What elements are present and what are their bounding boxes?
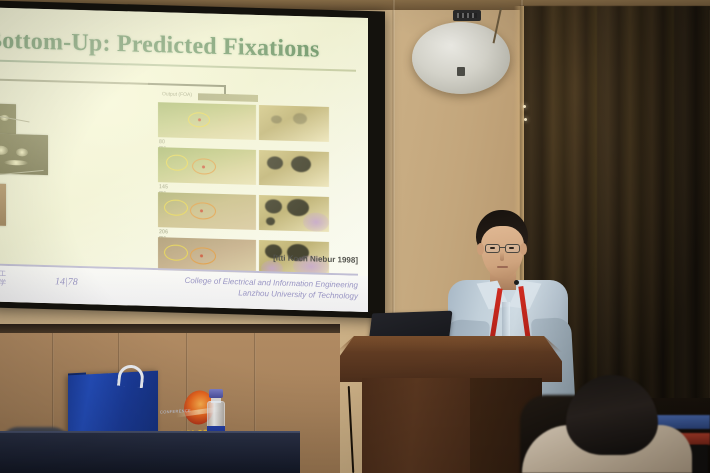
diagram-flow-arrow xyxy=(148,83,226,87)
fixation-ellipse xyxy=(190,247,216,265)
fixation-ellipse xyxy=(190,202,216,220)
saliency-map-image xyxy=(259,105,329,142)
speaker-mount-bracket xyxy=(453,10,481,21)
slide-page-number: 14|78 xyxy=(55,276,78,288)
diagram-flow-line xyxy=(0,78,150,84)
eyeglasses-bridge-icon xyxy=(500,247,505,248)
presenter-nose xyxy=(500,252,504,261)
presenter-ear-right xyxy=(520,243,527,255)
projection-screen-surface: Bottom-Up: Predicted Fixations xyxy=(0,7,368,312)
curtain-light-glint xyxy=(524,118,527,121)
fixation-point xyxy=(198,118,201,121)
fixation-ellipse xyxy=(164,199,188,216)
water-bottle-cap xyxy=(209,389,223,398)
scene-image xyxy=(158,192,256,230)
front-table xyxy=(0,433,300,473)
scene-image xyxy=(158,147,256,185)
fixation-point xyxy=(200,209,203,212)
projection-screen-frame: Bottom-Up: Predicted Fixations xyxy=(0,0,385,318)
slide-title: Bottom-Up: Predicted Fixations xyxy=(0,27,320,63)
scene-image xyxy=(158,102,256,140)
slide-footer-cn-line2: 大学 xyxy=(0,279,6,288)
speaker-logo-plate xyxy=(457,67,465,76)
saliency-map-image xyxy=(259,150,329,187)
fixation-ellipse xyxy=(164,244,188,261)
saliency-thumbnail xyxy=(0,183,6,226)
fixation-ellipse xyxy=(166,154,188,171)
presenter-ear-left xyxy=(477,243,484,255)
diagram-output-bar xyxy=(198,93,258,102)
lapel-microphone-icon xyxy=(514,280,519,285)
presentation-slide: Bottom-Up: Predicted Fixations xyxy=(0,7,368,312)
podium-top-bevel xyxy=(336,336,562,352)
fixation-point xyxy=(200,254,203,257)
slide-footer-cn-text: 理工 大学 xyxy=(0,270,6,288)
presentation-photo-scene: Bottom-Up: Predicted Fixations xyxy=(0,0,710,473)
saliency-thumbnail xyxy=(0,133,48,175)
saliency-map-image xyxy=(259,195,329,232)
diagram-output-label: Output (FOA) xyxy=(162,91,192,98)
lower-wall-trim xyxy=(0,324,340,333)
slide-footer-cn-line1: 理工 xyxy=(0,270,6,279)
fixation-point xyxy=(202,165,205,168)
curtain-light-glint xyxy=(523,105,526,108)
